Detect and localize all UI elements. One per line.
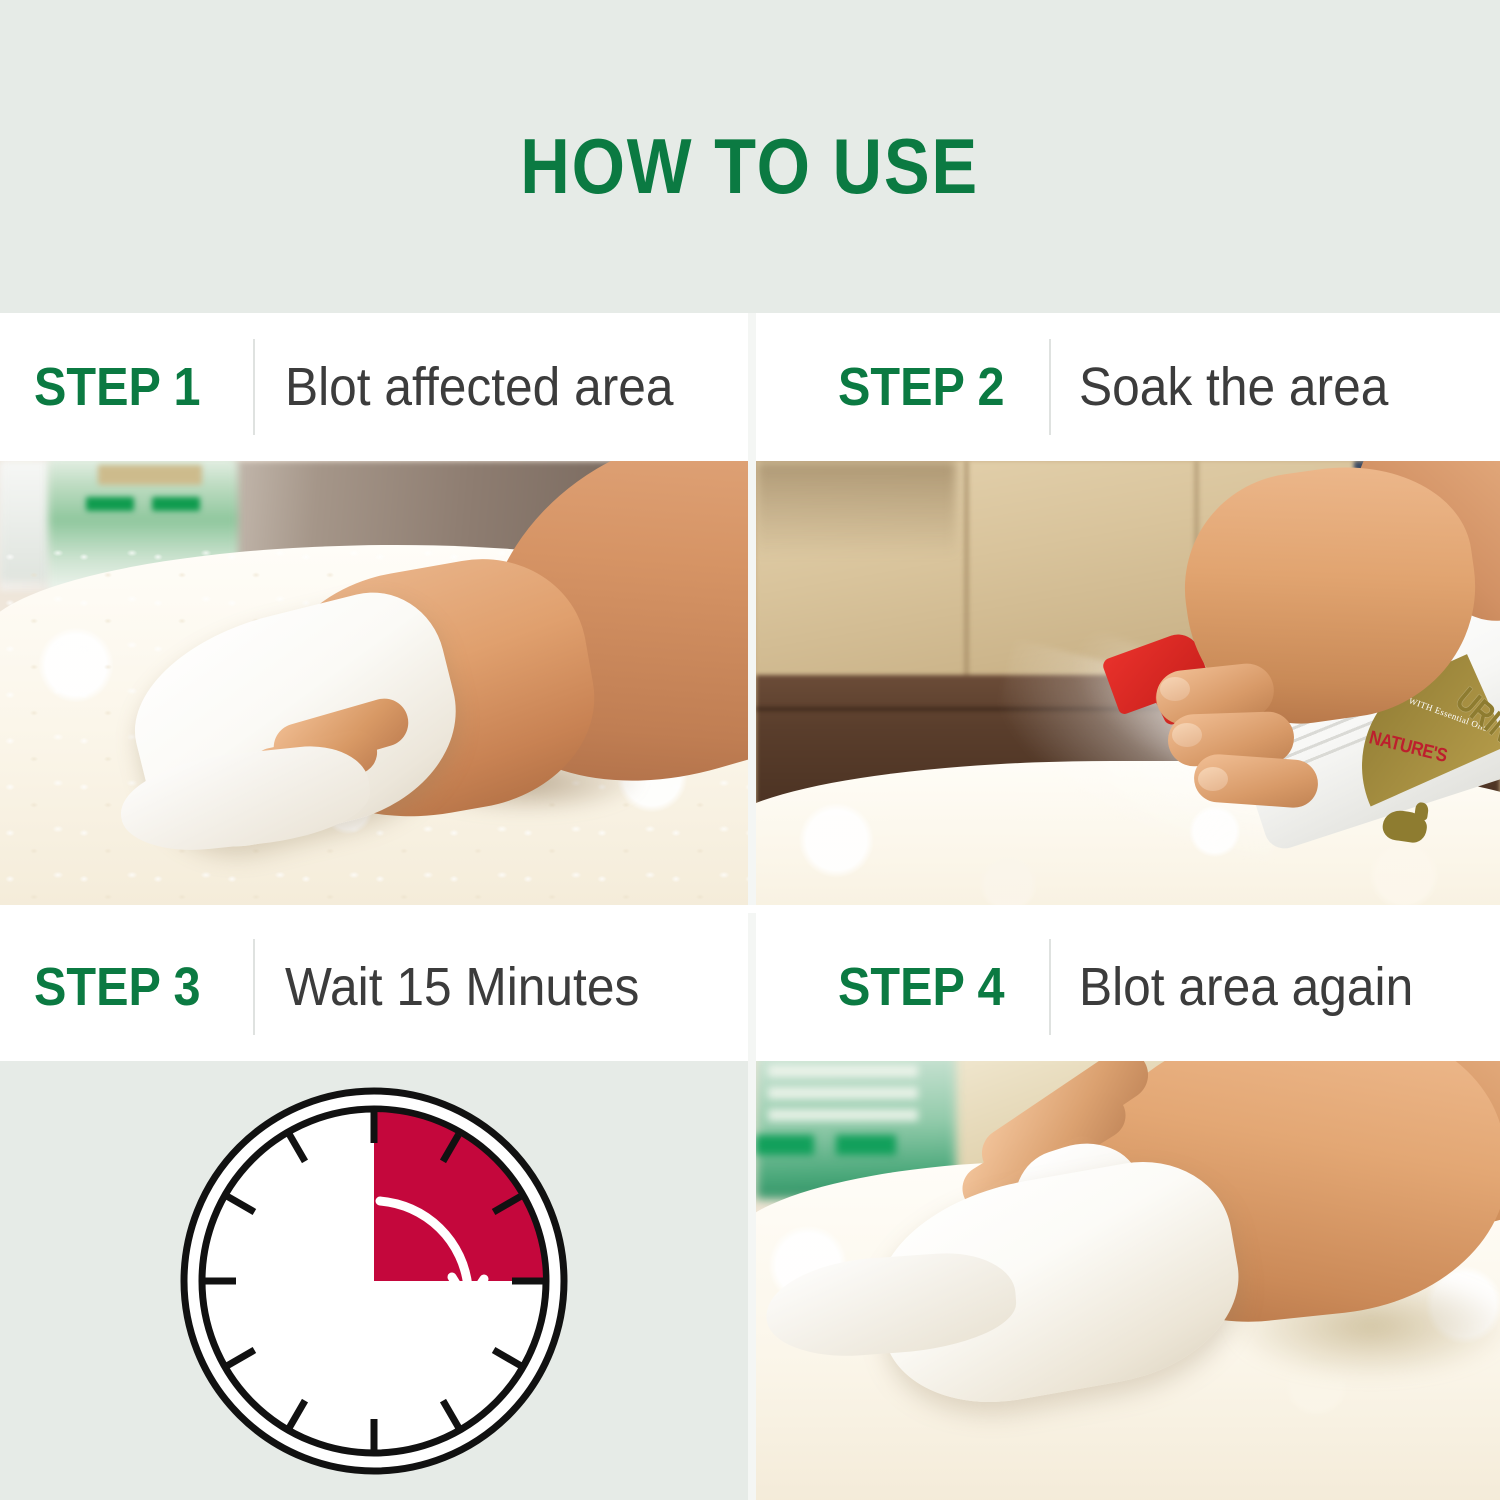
step-label-bar-3: STEP 3 Wait 15 Minutes <box>0 913 748 1061</box>
photo1-bottle-label-band <box>98 465 202 485</box>
photo2-sofa-seam-left <box>964 461 969 699</box>
step-label-bar-4: STEP 4 Blot area again <box>756 913 1500 1061</box>
step-photo-3 <box>0 1061 748 1500</box>
how-to-use-infographic: HOW TO USE STEP 1 Blot affected area <box>0 0 1500 1500</box>
page-title: HOW TO USE <box>521 127 980 205</box>
step-label-bar-2: STEP 2 Soak the area <box>756 313 1500 461</box>
clock-icon <box>174 1081 574 1481</box>
photo2-sofa-shadow <box>756 461 956 557</box>
header-band: HOW TO USE <box>0 0 1500 313</box>
photo4-box-green-bar-left <box>756 1135 814 1155</box>
step-text-2: Soak the area <box>1079 360 1388 414</box>
step-number-1: STEP 1 <box>34 360 201 414</box>
step-divider-4 <box>1049 939 1051 1035</box>
photo2-fingernail-3 <box>1198 767 1228 791</box>
step-cell-1: STEP 1 Blot affected area <box>0 313 748 905</box>
step-number-2: STEP 2 <box>838 360 1005 414</box>
step-photo-1 <box>0 461 748 905</box>
dog-silhouette-icon <box>1381 808 1429 844</box>
step-label-bar-1: STEP 1 Blot affected area <box>0 313 748 461</box>
step-divider-1 <box>253 339 255 435</box>
photo2-fingernail-2 <box>1172 723 1202 747</box>
photo4-box-green-bar-right <box>836 1135 896 1155</box>
row-gutter <box>0 905 1500 913</box>
step-photo-4 <box>756 1061 1500 1500</box>
step-text-3: Wait 15 Minutes <box>285 960 639 1014</box>
step-number-3: STEP 3 <box>34 960 201 1014</box>
step-photo-2: FRAGRANCED WITH Essential Oils NATURE'S … <box>756 461 1500 905</box>
photo1-bottle-green-bar-right <box>152 497 200 511</box>
photo1-bottle-green-bar-left <box>86 497 134 511</box>
step-divider-2 <box>1049 339 1051 435</box>
step-text-4: Blot area again <box>1079 960 1413 1014</box>
step-divider-3 <box>253 939 255 1035</box>
step-text-1: Blot affected area <box>285 360 674 414</box>
photo2-fingernail-1 <box>1160 677 1190 701</box>
step-cell-2: STEP 2 Soak the area FRAGRANCED WITH Ess… <box>756 313 1500 905</box>
step-cell-4: STEP 4 Blot area again <box>756 913 1500 1500</box>
step-cell-3: STEP 3 Wait 15 Minutes <box>0 913 748 1500</box>
photo4-box-text-lines <box>768 1065 918 1121</box>
step-number-4: STEP 4 <box>838 960 1005 1014</box>
